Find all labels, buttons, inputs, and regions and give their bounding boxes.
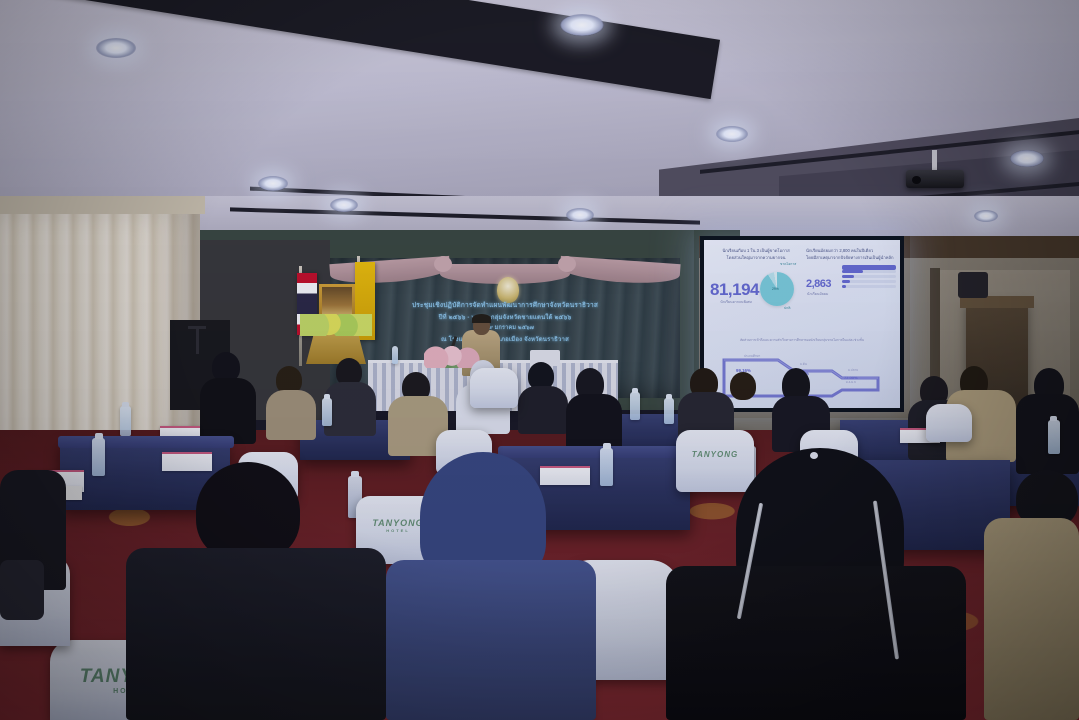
bar-chart: [842, 264, 896, 290]
chair-mid-1: TANYONG: [676, 430, 754, 492]
downlight-8: [974, 210, 998, 222]
projector-lens-icon: [912, 176, 921, 184]
water-bottle-2: [322, 398, 332, 426]
water-bottle-6: [92, 438, 105, 476]
banner-line-1: ประชุมเชิงปฏิบัติการจัดทำแผนพัฒนาการศึกษ…: [340, 300, 670, 310]
swag-rosette-left: [434, 256, 452, 272]
funnel-stage-1-label: ประถมศึกษา: [744, 354, 760, 359]
funnel-stage-3-label: ม.ปลาย: [848, 368, 858, 373]
pie-slice-label: 29%: [772, 287, 779, 291]
funnel-stage-3-caption: ม.4-ม.6: [844, 380, 858, 385]
chair-right-2: [926, 404, 972, 442]
water-bottle-head-table: [392, 346, 398, 364]
slide-left-heading: นักเรียนเกือบ 1 ใน 3 เป็นผู้ขาดโอกาส โดย…: [712, 248, 800, 261]
mic-stand-left-arm: [188, 326, 206, 329]
pie-note-2: ปกติ: [784, 306, 790, 311]
attendee-torso-b6: [518, 386, 568, 434]
foreground-person-body-black: [666, 566, 966, 720]
speaker-hair: [472, 314, 491, 323]
conference-room-photo: ประชุมเชิงปฏิบัติการจัดทำแผนพัฒนาการศึกษ…: [0, 0, 1079, 720]
attendee-torso-b1: [200, 378, 256, 444]
hijab-pin-icon: [810, 452, 818, 459]
downlight-1: [96, 38, 136, 58]
foreground-person-torso-right: [984, 518, 1079, 720]
slide-left-panel: นักเรียนเกือบ 1 ใน 3 เป็นผู้ขาดโอกาส โดย…: [712, 248, 800, 261]
water-bottle-1: [120, 406, 131, 436]
downlight-2: [258, 176, 288, 191]
swag-rosette-right: [558, 256, 576, 272]
banner-line-4: ณ โรงแรมตันหยง อำเภอเมือง จังหวัดนราธิวา…: [340, 334, 670, 344]
pedestal-flower-arrangement: [300, 314, 372, 336]
funnel-stage-2-label: ม.ต้น: [800, 362, 807, 367]
banner-line-2: ปีที่ ๒๕๖๖ - ๒๕๗๐ กลุ่มจังหวัดชายแดนใต้ …: [340, 312, 670, 322]
water-bottle-4: [664, 398, 674, 424]
name-card-6: [540, 466, 590, 485]
chair-logo-1: TANYONG: [676, 450, 754, 459]
slide-right-panel: นักเรียนมัธยมกว่า 2,800 คนในปีเดียว โดยม…: [806, 248, 896, 261]
attendee-torso-b7: [566, 394, 622, 450]
name-card-5: [162, 452, 212, 471]
attendee-torso-b2: [266, 390, 316, 440]
slide-right-heading: นักเรียนมัธยมกว่า 2,800 คนในปีเดียว โดยม…: [806, 248, 896, 261]
curtain-rail-left: [0, 196, 205, 214]
downlight-6: [716, 126, 748, 142]
mic-stand-left: [196, 328, 199, 354]
stage-banner-text: ประชุมเชิงปฏิบัติการจัดทำแผนพัฒนาการศึกษ…: [340, 300, 670, 344]
pie-note-1: ขาดโอกาส: [780, 262, 796, 267]
slide-left-big-number: 81,194: [710, 280, 759, 300]
chair-back-1: [470, 368, 518, 408]
slide-right-big-number: 2,863: [806, 278, 831, 290]
slide-footer-note: สัดส่วนการเข้าถึงและความสำเร็จทางการศึกษ…: [718, 338, 886, 343]
banner-line-3: วันที่ ๙ มกราคม ๒๕๖๗: [340, 324, 670, 332]
water-bottle-5: [1048, 420, 1060, 454]
foreground-person-head-left: [196, 462, 300, 562]
projector-mount: [932, 150, 937, 172]
foreground-person-left-edge-arm: [0, 560, 44, 620]
slide-left-big-caption: นักเรียนยากจนพิเศษ: [712, 299, 760, 305]
downlight-3: [330, 198, 358, 212]
water-bottle-3: [630, 392, 640, 420]
speaker-box-right: [958, 272, 988, 298]
funnel-stage-3-value: 72.00%ม.4-ม.6: [844, 375, 858, 385]
attendee-head-b9: [730, 372, 756, 400]
projector: [906, 170, 964, 188]
downlight-5: [566, 208, 594, 222]
water-bottle-7: [600, 448, 613, 486]
downlight-4: [560, 14, 604, 36]
downlight-7: [1010, 150, 1044, 167]
table-center-1-top: [498, 446, 694, 458]
table-left-1-top: [58, 436, 234, 448]
slide-right-big-caption: นักเรียนมัธยม: [807, 291, 841, 297]
foreground-person-body-blue: [386, 560, 596, 720]
foreground-person-torso-left: [126, 548, 386, 720]
